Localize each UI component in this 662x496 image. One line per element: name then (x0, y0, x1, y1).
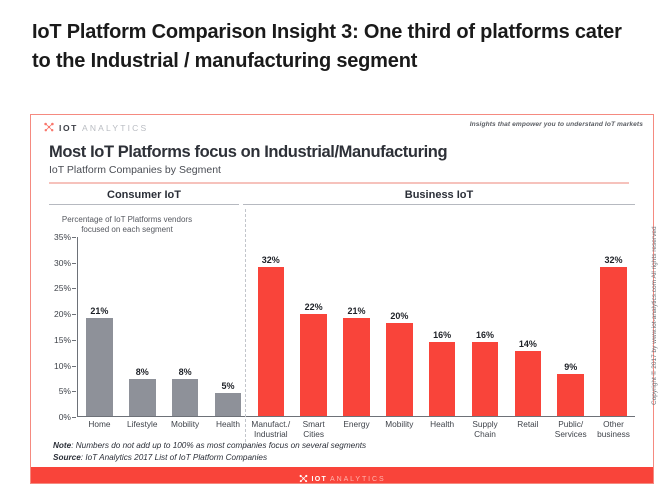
bar-item[interactable]: 5%Health (207, 237, 250, 416)
bar-item[interactable]: 9%Public/Services (549, 237, 592, 416)
chart-subtitle: IoT Platform Companies by Segment (49, 164, 221, 176)
bar-rect[interactable] (215, 393, 242, 416)
bar-value-label: 16% (476, 330, 494, 340)
bar-value-label: 9% (564, 362, 577, 372)
bar-value-label: 14% (519, 339, 537, 349)
footnote-note-text: : Numbers do not add up to 100% as most … (71, 441, 366, 450)
y-axis-tick-labels: 0%5%10%15%20%25%30%35% (49, 237, 77, 417)
bar-item[interactable]: 16%SupplyChain (464, 237, 507, 416)
bar-rect[interactable] (386, 323, 413, 416)
y-axis-tick: 25% (54, 283, 71, 293)
bar-item[interactable]: 20%Mobility (378, 237, 421, 416)
bar-item[interactable]: 22%SmartCities (292, 237, 335, 416)
copyright-notice: Copyright © 2017 by www.iot-analytics.co… (651, 235, 658, 405)
footnote-source-label: Source (53, 453, 81, 462)
bar-item[interactable]: 21%Home (78, 237, 121, 416)
footer-brand-name-secondary: ANALYTICS (330, 476, 385, 483)
bar-rect[interactable] (515, 351, 542, 416)
footer-brand-name-primary: IOT (311, 476, 327, 483)
y-axis-note: Percentage of IoT Platforms vendors focu… (47, 215, 207, 235)
bar-rect[interactable] (343, 318, 370, 416)
bar-value-label: 16% (433, 330, 451, 340)
section-header-consumer-label: Consumer IoT (107, 189, 181, 201)
footnote-source-text: : IoT Analytics 2017 List of IoT Platfor… (81, 453, 267, 462)
chart-footnotes: Note: Numbers do not add up to 100% as m… (53, 440, 366, 463)
section-header-business-label: Business IoT (405, 189, 473, 201)
bar-rect[interactable] (129, 379, 156, 416)
bar-rect[interactable] (557, 374, 584, 416)
y-axis-tick: 20% (54, 309, 71, 319)
bar-item[interactable]: 32%Otherbusiness (592, 237, 635, 416)
bar-item[interactable]: 21%Energy (335, 237, 378, 416)
bar-rect[interactable] (172, 379, 199, 416)
bar-value-label: 22% (305, 302, 323, 312)
bar-value-label: 5% (221, 381, 234, 391)
section-header-business-rule (243, 204, 635, 205)
bar-value-label: 8% (179, 367, 192, 377)
footnote-note-label: Note (53, 441, 71, 450)
y-axis-tick: 35% (54, 232, 71, 242)
bar-category-label: Otherbusiness (588, 420, 639, 439)
insight-chart-card: IOT ANALYTICS Insights that empower you … (30, 114, 654, 484)
section-header-consumer-rule (49, 204, 239, 205)
bar-value-label: 32% (605, 255, 623, 265)
y-axis-tick: 5% (59, 386, 71, 396)
bar-item[interactable]: 16%Health (421, 237, 464, 416)
bar-value-label: 20% (390, 311, 408, 321)
bar-series: 21%Home8%Lifestyle8%Mobility5%Health32%M… (78, 237, 635, 416)
y-axis-tick: 15% (54, 335, 71, 345)
bar-value-label: 21% (347, 306, 365, 316)
brand-name-secondary: ANALYTICS (82, 123, 148, 133)
y-axis-tick: 0% (59, 412, 71, 422)
bar-rect[interactable] (258, 267, 285, 416)
section-header-business: Business IoT (243, 189, 635, 205)
x-axis-line (77, 416, 635, 417)
y-axis-tick: 30% (54, 258, 71, 268)
footnote-source: Source: IoT Analytics 2017 List of IoT P… (53, 452, 366, 464)
chart-plot-area: 0%5%10%15%20%25%30%35% 21%Home8%Lifestyl… (49, 237, 635, 417)
bar-item[interactable]: 8%Mobility (164, 237, 207, 416)
card-footer-bar: IOT ANALYTICS (31, 467, 653, 483)
bar-value-label: 8% (136, 367, 149, 377)
bar-item[interactable]: 14%Retail (506, 237, 549, 416)
bar-item[interactable]: 32%Manufact./Industrial (249, 237, 292, 416)
chart-title: Most IoT Platforms focus on Industrial/M… (49, 143, 447, 162)
section-header-consumer: Consumer IoT (49, 189, 239, 205)
bar-rect[interactable] (300, 314, 327, 416)
brand-logo: IOT ANALYTICS (43, 119, 148, 137)
brand-name-primary: IOT (59, 123, 78, 133)
bar-value-label: 32% (262, 255, 280, 265)
card-header-bar: IOT ANALYTICS Insights that empower you … (31, 115, 653, 137)
bar-rect[interactable] (429, 342, 456, 417)
y-axis-tick: 10% (54, 361, 71, 371)
title-divider (49, 182, 629, 184)
brand-tagline: Insights that empower you to understand … (470, 121, 643, 128)
network-nodes-icon (298, 470, 308, 488)
bar-item[interactable]: 8%Lifestyle (121, 237, 164, 416)
page-title: IoT Platform Comparison Insight 3: One t… (32, 18, 632, 76)
bar-value-label: 21% (90, 306, 108, 316)
bar-rect[interactable] (86, 318, 113, 416)
footnote-note: Note: Numbers do not add up to 100% as m… (53, 440, 366, 452)
footer-brand-logo: IOT ANALYTICS (298, 470, 385, 488)
network-nodes-icon (43, 119, 55, 137)
bar-rect[interactable] (472, 342, 499, 417)
bar-rect[interactable] (600, 267, 627, 416)
